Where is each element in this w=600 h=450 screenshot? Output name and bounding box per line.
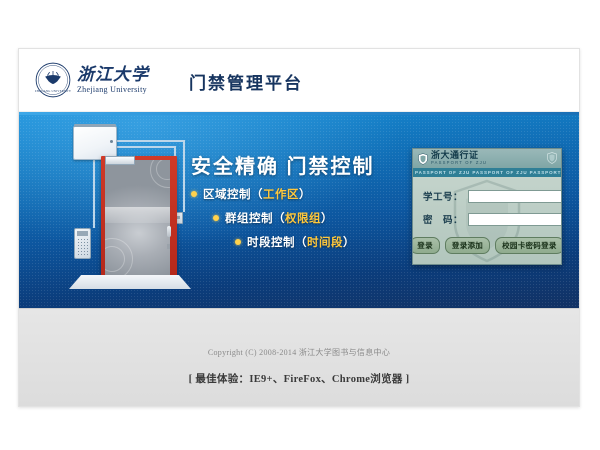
access-control-box-icon [73,126,117,160]
login-button[interactable]: 登录 [412,237,440,254]
bullet-dot-icon [213,215,219,221]
login-button-row: 登录 登录添加 校园卡密码登录 [421,237,553,254]
site-footer: Copyright (C) 2008-2014 浙江大学图书与信息中心 [ 最佳… [19,308,579,407]
password-label: 密 码： [421,212,463,226]
password-row: 密 码： [421,212,553,226]
bullet-item-group-control: 群组控制（权限组） [213,210,355,226]
bullet-dot-icon [191,191,197,197]
footer-browser-note: [ 最佳体验：IE9+、FireFox、Chrome浏览器 ] [19,371,579,386]
username-row: 学工号： [421,189,553,203]
zhejiang-university-seal-icon: ZHEJIANG UNIVERSITY [35,62,71,98]
floor-shape [69,275,191,289]
bullet-dot-icon [235,239,241,245]
username-input[interactable] [468,190,562,203]
login-title-en: PASSPORT OF ZJU [431,161,487,165]
logo-text-en: Zhejiang University [77,86,149,94]
page-card: ZHEJIANG UNIVERSITY 浙江大学 Zhejiang Univer… [18,48,580,407]
site-header: ZHEJIANG UNIVERSITY 浙江大学 Zhejiang Univer… [19,49,579,112]
login-panel-header: 浙大通行证 PASSPORT OF ZJU [413,149,561,168]
bullet-label: 时段控制（ [247,237,307,249]
banner-headline: 安全精确 门禁控制 [191,150,375,179]
bullet-item-area-control: 区域控制（工作区） [191,186,355,202]
login-title-cn: 浙大通行证 [431,151,487,160]
bullet-item-time-control: 时段控制（时间段） [235,234,355,250]
shield-icon [418,153,428,165]
feature-bullet-list: 区域控制（工作区） 群组控制（权限组） 时段控制（时间段） [191,186,355,258]
bullet-accent: 工作区 [263,189,299,201]
security-door-icon [101,156,177,278]
shield-watermark-icon [547,152,557,164]
logo-text-cn: 浙江大学 [77,66,149,83]
page-title: 门禁管理平台 [189,69,303,94]
login-add-button[interactable]: 登录添加 [445,237,490,254]
bullet-accent: 权限组 [285,213,321,225]
passport-watermark-strip: PASSPORT OF ZJU PASSPORT OF ZJU PASSPORT… [413,168,561,177]
bullet-tail: ） [299,189,311,201]
bullet-label: 群组控制（ [225,213,285,225]
bullet-label: 区域控制（ [203,189,263,201]
bullet-accent: 时间段 [307,237,343,249]
password-input[interactable] [468,213,562,226]
banner-top-highlight [19,112,579,115]
svg-text:ZHEJIANG UNIVERSITY: ZHEJIANG UNIVERSITY [35,89,71,93]
hero-banner: 安全精确 门禁控制 区域控制（工作区） 群组控制（权限组） 时段控制（时间段） [19,112,579,308]
bullet-tail: ） [321,213,333,225]
bullet-tail: ） [343,237,355,249]
access-control-illustration [49,120,209,305]
keypad-reader-icon [74,228,91,259]
login-form: 学工号： 密 码： 登录 登录添加 校园卡密码登录 [413,177,561,264]
university-logo[interactable]: ZHEJIANG UNIVERSITY 浙江大学 Zhejiang Univer… [35,62,149,98]
campus-card-login-button[interactable]: 校园卡密码登录 [495,237,562,254]
login-panel: 浙大通行证 PASSPORT OF ZJU PASSPORT OF ZJU PA… [412,148,562,265]
username-label: 学工号： [421,189,463,203]
footer-copyright: Copyright (C) 2008-2014 浙江大学图书与信息中心 [19,309,579,358]
